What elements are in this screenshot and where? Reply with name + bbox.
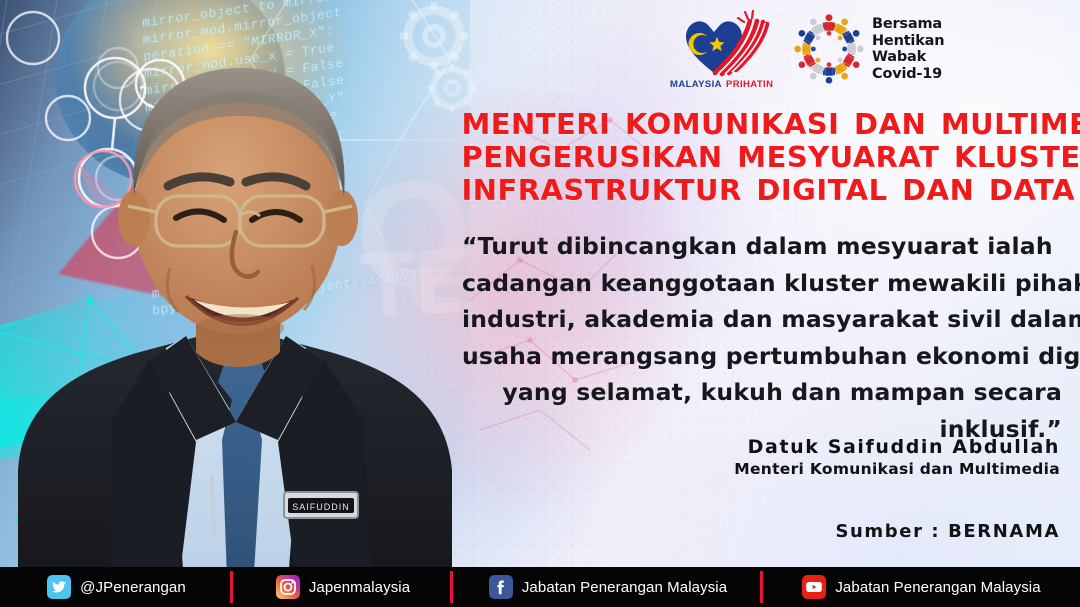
malaysia-prihatin-logo: MALAYSIA PRIHATIN: [668, 7, 778, 91]
speaker-role: Menteri Komunikasi dan Multimedia: [462, 459, 1060, 479]
youtube-handle: Jabatan Penerangan Malaysia: [835, 579, 1040, 596]
portrait-photo-minister: SAIFUDDIN: [0, 0, 470, 607]
facebook-handle: Jabatan Penerangan Malaysia: [522, 579, 727, 596]
facebook-icon[interactable]: [489, 575, 513, 599]
footer-item-twitter[interactable]: @JPenerangan: [0, 567, 233, 607]
source-label: Sumber : BERNAMA: [462, 521, 1060, 542]
footer-item-youtube[interactable]: Jabatan Penerangan Malaysia: [763, 567, 1080, 607]
svg-text:SAIFUDDIN: SAIFUDDIN: [292, 502, 350, 512]
twitter-icon[interactable]: [47, 575, 71, 599]
quote-line-5: yang selamat, kukuh dan mampan secara: [462, 374, 1062, 411]
bersama-hentikan-wabak-logo: Bersama Hentikan Wabak Covid-19: [794, 14, 944, 84]
headline-line-3: INFRASTRUKTUR DIGITAL DAN DATA: [462, 174, 1071, 207]
covid-logo-text: Bersama Hentikan Wabak Covid-19: [872, 16, 944, 82]
footer-item-facebook[interactable]: Jabatan Penerangan Malaysia: [453, 567, 763, 607]
instagram-icon[interactable]: [276, 575, 300, 599]
instagram-handle: Japenmalaysia: [309, 579, 410, 596]
name-tag: SAIFUDDIN: [284, 492, 358, 518]
prihatin-word-right: PRIHATIN: [726, 79, 773, 90]
twitter-handle: @JPenerangan: [80, 579, 186, 596]
covid-line-4: Covid-19: [872, 66, 944, 83]
covid-line-1: Bersama: [872, 16, 944, 33]
headline-line-1: MENTERI KOMUNIKASI DAN MULTIMEDIA: [462, 108, 1071, 141]
speaker-name: Datuk Saifuddin Abdullah: [462, 435, 1060, 459]
social-footer-bar: @JPenerangan Japenmalaysia: [0, 567, 1080, 607]
covid-people-burst-icon: [794, 14, 864, 84]
headline: MENTERI KOMUNIKASI DAN MULTIMEDIA PENGER…: [462, 108, 1071, 207]
covid-line-2: Hentikan: [872, 33, 944, 50]
prihatin-heart-flag-icon: MALAYSIA PRIHATIN: [668, 7, 778, 91]
logo-group: MALAYSIA PRIHATIN: [668, 6, 938, 92]
attribution: Datuk Saifuddin Abdullah Menteri Komunik…: [462, 435, 1060, 479]
covid-line-3: Wabak: [872, 49, 944, 66]
quote-line-1: “Turut dibincangkan dalam mesyuarat iala…: [462, 228, 1062, 265]
quote-block: “Turut dibincangkan dalam mesyuarat iala…: [462, 228, 1062, 447]
quote-line-3: industri, akademia dan masyarakat sivil …: [462, 301, 1062, 338]
footer-item-instagram[interactable]: Japenmalaysia: [233, 567, 453, 607]
headline-line-2: PENGERUSIKAN MESYUARAT KLUSTER: [462, 141, 1071, 174]
quote-line-2: cadangan keanggotaan kluster mewakili pi…: [462, 265, 1062, 302]
quote-line-4: usaha merangsang pertumbuhan ekonomi dig…: [462, 338, 1062, 375]
youtube-icon[interactable]: [802, 575, 826, 599]
poster-canvas: mirror_object to mirror mirror_mod.mirro…: [0, 0, 1080, 607]
prihatin-word-left: MALAYSIA: [670, 79, 722, 90]
